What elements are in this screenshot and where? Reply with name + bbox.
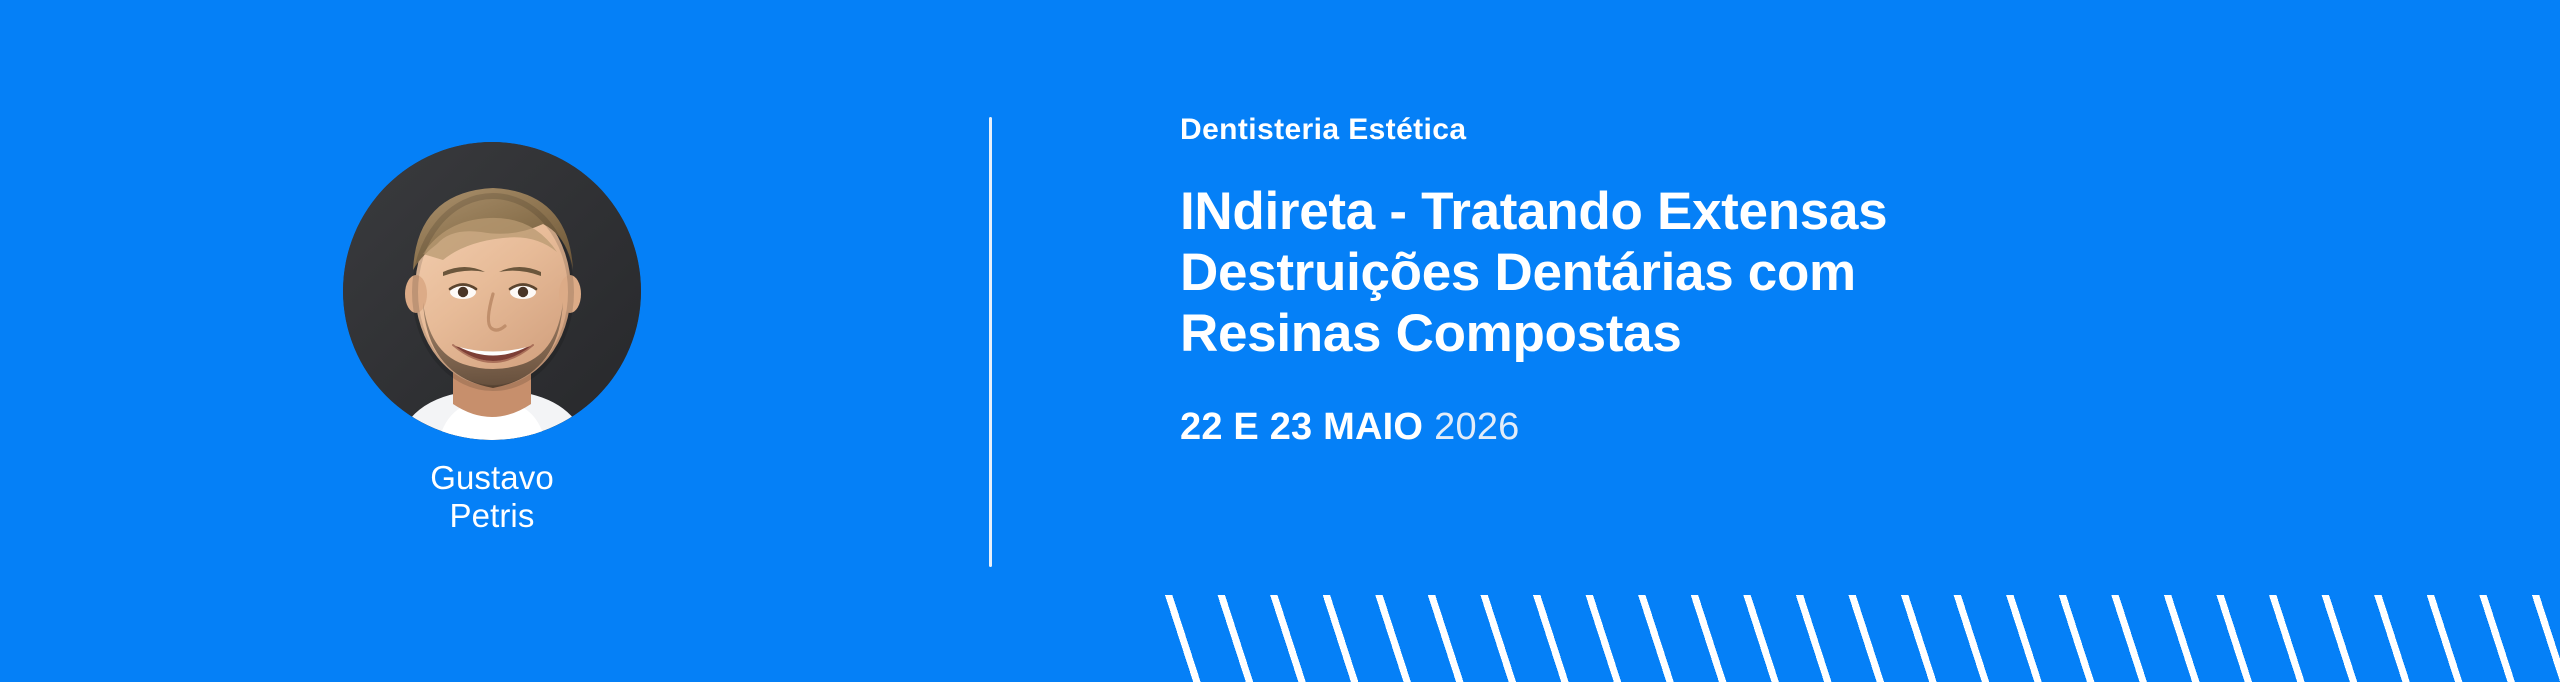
event-date: 22 E 23 MAIO2026: [1180, 405, 2510, 451]
speaker-name: Gustavo Petris: [343, 459, 641, 534]
diagonal-stripes-decoration: [1163, 595, 2560, 682]
stripes-pattern: [1163, 595, 2560, 682]
avatar: [343, 142, 641, 440]
category-label: Dentisteria Estética: [1180, 112, 2510, 148]
speaker-portrait-illustration: [343, 142, 641, 440]
course-announcement-banner: Gustavo Petris Dentisteria Estética INdi…: [0, 0, 2560, 682]
event-title: INdireta - Tratando Extensas Destruições…: [1180, 182, 2510, 365]
vertical-divider: [989, 117, 992, 567]
event-date-days: 22 E 23 MAIO: [1180, 406, 1423, 448]
speaker-block: Gustavo Petris: [343, 142, 641, 534]
event-date-year: 2026: [1434, 406, 1519, 448]
content-block: Dentisteria Estética INdireta - Tratando…: [1180, 112, 2510, 450]
